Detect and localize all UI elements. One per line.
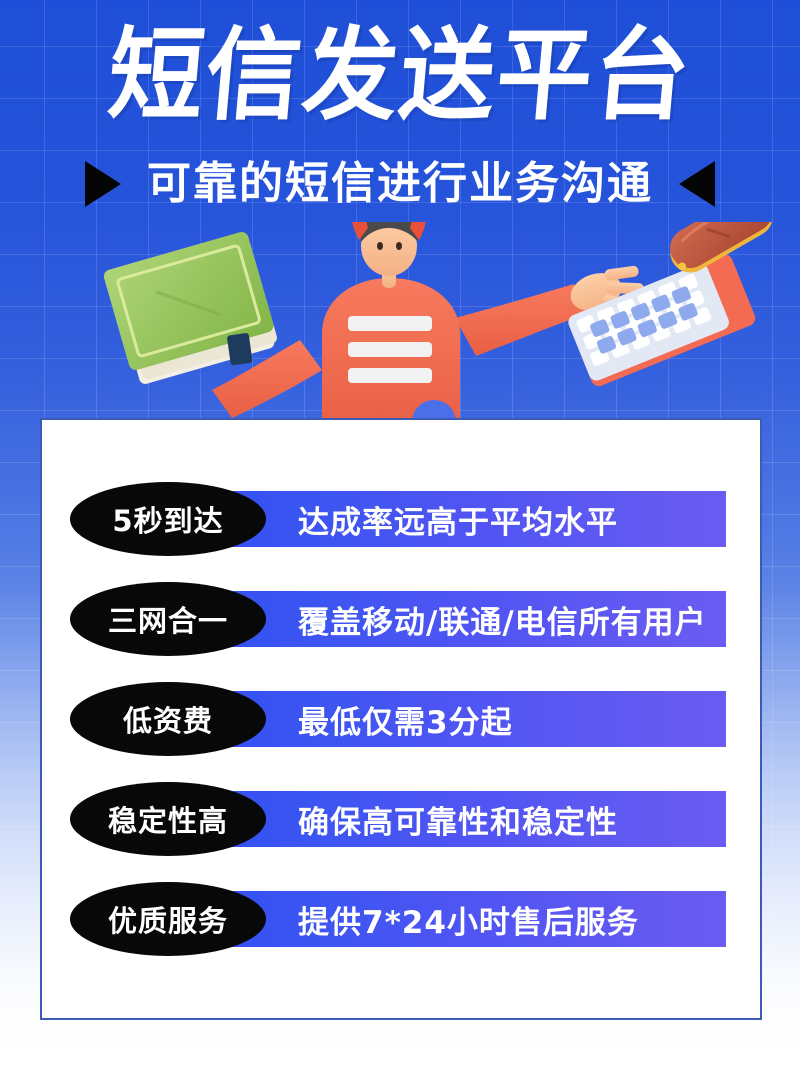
feature-description: 覆盖移动/联通/电信所有用户 xyxy=(298,591,707,647)
feature-description: 达成率远高于平均水平 xyxy=(298,491,618,547)
feature-badge: 5秒到达 xyxy=(70,482,266,556)
subtitle-row: 可靠的短信进行业务沟通 xyxy=(0,158,800,210)
poster-header: 短信发送平台 可靠的短信进行业务沟通 xyxy=(0,0,800,230)
page-subtitle: 可靠的短信进行业务沟通 xyxy=(147,158,653,210)
triangle-right-icon xyxy=(85,161,121,207)
feature-description: 最低仅需3分起 xyxy=(298,691,513,747)
feature-badge: 优质服务 xyxy=(70,882,266,956)
page-title: 短信发送平台 xyxy=(0,19,800,133)
poster-root: 短信发送平台 可靠的短信进行业务沟通 xyxy=(0,0,800,1069)
feature-row[interactable]: 提供7*24小时售后服务 优质服务 xyxy=(42,882,760,956)
feature-description: 确保高可靠性和稳定性 xyxy=(298,791,618,847)
feature-badge: 三网合一 xyxy=(70,582,266,656)
triangle-left-icon xyxy=(679,161,715,207)
feature-badge: 低资费 xyxy=(70,682,266,756)
feature-row[interactable]: 达成率远高于平均水平 5秒到达 xyxy=(42,482,760,556)
feature-badge: 稳定性高 xyxy=(70,782,266,856)
keyboard-illustration xyxy=(566,252,758,388)
feature-row[interactable]: 最低仅需3分起 低资费 xyxy=(42,682,760,756)
feature-row[interactable]: 覆盖移动/联通/电信所有用户 三网合一 xyxy=(42,582,760,656)
feature-row[interactable]: 确保高可靠性和稳定性 稳定性高 xyxy=(42,782,760,856)
feature-card: 达成率远高于平均水平 5秒到达 覆盖移动/联通/电信所有用户 三网合一 最低仅需… xyxy=(40,418,762,1020)
feature-description: 提供7*24小时售后服务 xyxy=(298,891,639,947)
hero-illustration xyxy=(0,222,800,437)
